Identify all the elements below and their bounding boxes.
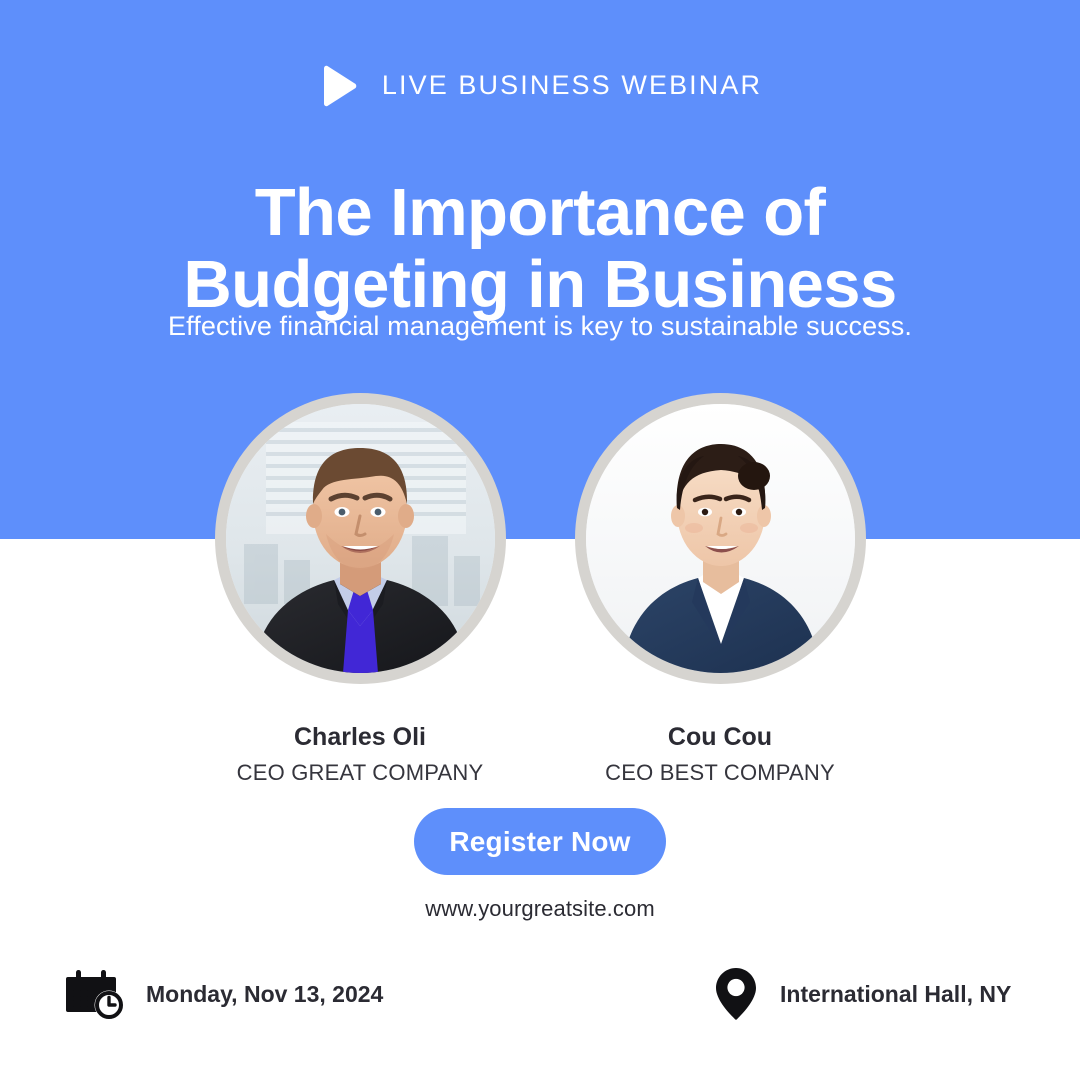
cta-container: Register Now — [0, 808, 1080, 875]
speaker-name: Cou Cou — [668, 723, 772, 752]
avatar — [226, 404, 495, 673]
speaker-card: Charles Oli CEO GREAT COMPANY — [213, 393, 508, 785]
footer-date-label: Monday, Nov 13, 2024 — [146, 983, 383, 1006]
speaker-card: Cou Cou CEO BEST COMPANY — [573, 393, 868, 785]
speaker-role: CEO GREAT COMPANY — [237, 760, 484, 785]
webinar-poster: LIVE BUSINESS WEBINAR The Importance of … — [0, 0, 1080, 1080]
avatar-ring — [215, 393, 506, 684]
kicker-label: LIVE BUSINESS WEBINAR — [382, 72, 762, 99]
register-now-button[interactable]: Register Now — [414, 808, 666, 875]
play-icon — [318, 64, 360, 108]
kicker: LIVE BUSINESS WEBINAR — [0, 62, 1080, 108]
portrait-cou-cou — [586, 404, 855, 673]
speakers-list: Charles Oli CEO GREAT COMPANY — [0, 393, 1080, 785]
avatar — [586, 404, 855, 673]
page-title: The Importance of Budgeting in Business — [0, 177, 1080, 322]
portrait-charles-oli — [226, 404, 495, 673]
website-url[interactable]: www.yourgreatsite.com — [0, 896, 1080, 922]
subtitle: Effective financial management is key to… — [0, 310, 1080, 342]
footer-location: International Hall, NY — [714, 966, 1011, 1022]
title-line-1: The Importance of — [0, 177, 1080, 249]
speaker-name: Charles Oli — [294, 723, 426, 752]
avatar-ring — [575, 393, 866, 684]
speaker-role: CEO BEST COMPANY — [605, 760, 835, 785]
calendar-clock-icon — [66, 968, 126, 1020]
footer-location-label: International Hall, NY — [780, 983, 1011, 1006]
footer-date: Monday, Nov 13, 2024 — [66, 968, 383, 1020]
map-pin-icon — [714, 966, 758, 1022]
